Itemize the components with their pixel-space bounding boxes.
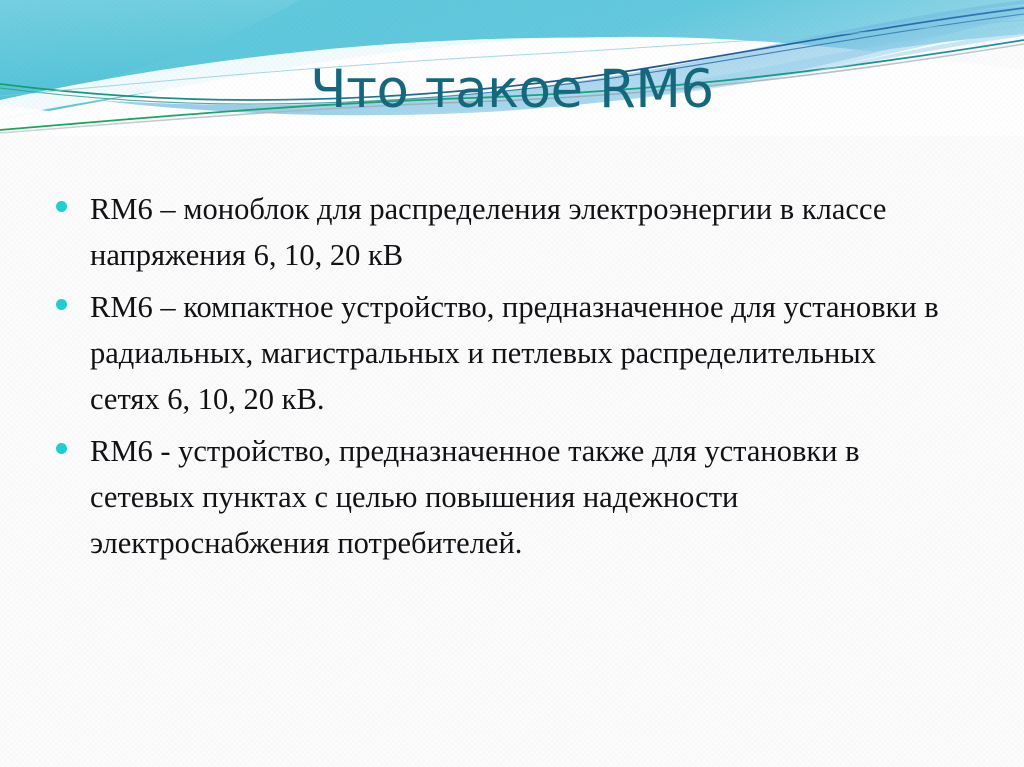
title-block: Что такое RM6 xyxy=(0,62,1024,118)
list-item: RM6 – моноблок для распределения электро… xyxy=(56,186,956,278)
list-item: RM6 - устройство, предназначенное также … xyxy=(56,428,956,566)
list-item-text: RM6 – моноблок для распределения электро… xyxy=(90,186,956,278)
bullet-disc-icon xyxy=(56,201,67,212)
slide-body-bullets: RM6 – моноблок для распределения электро… xyxy=(56,186,956,572)
page-title: Что такое RM6 xyxy=(310,62,714,118)
list-item: RM6 – компактное устройство, предназначе… xyxy=(56,284,956,422)
presentation-slide: Что такое RM6 RM6 – моноблок для распред… xyxy=(0,0,1024,767)
bullet-disc-icon xyxy=(56,443,67,454)
list-item-text: RM6 – компактное устройство, предназначе… xyxy=(90,284,952,422)
bullet-disc-icon xyxy=(56,299,67,310)
list-item-text: RM6 - устройство, предназначенное также … xyxy=(90,428,870,566)
